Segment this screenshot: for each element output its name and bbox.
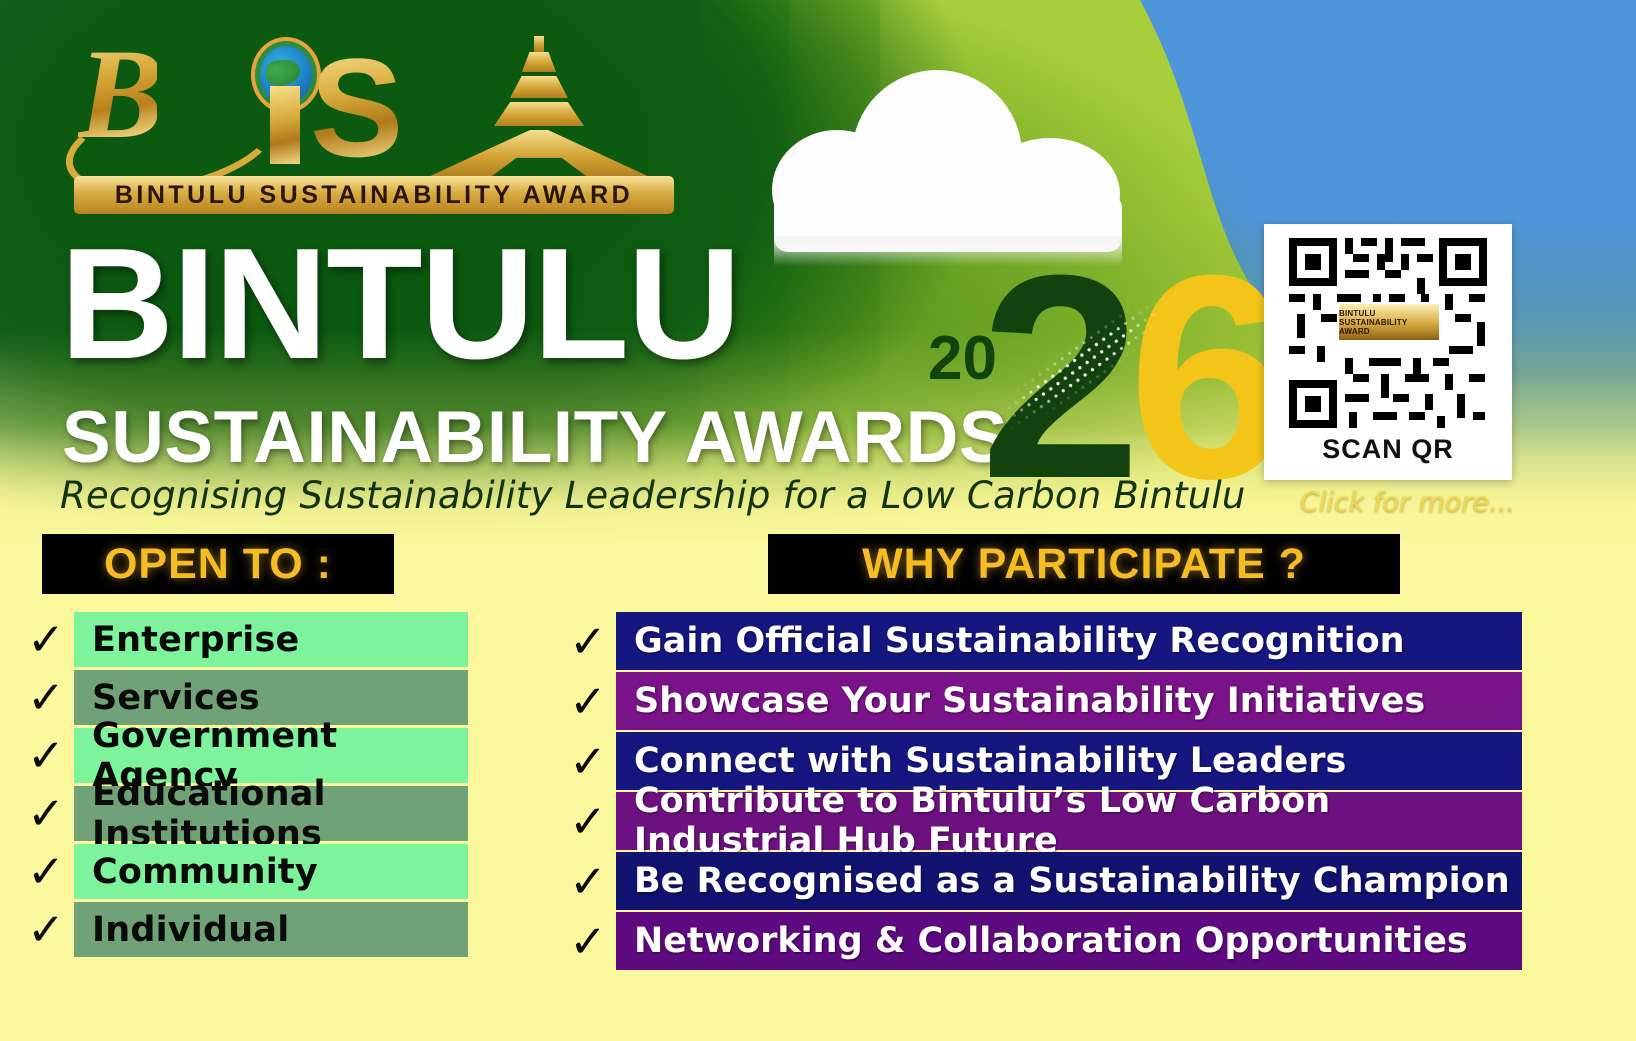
bisa-logo-mark: B S (70, 24, 680, 174)
why-participate-row-bar: Networking & Collaboration Opportunities (616, 912, 1522, 970)
qr-embedded-logo: BINTULU SUSTAINABILITY AWARD (1339, 304, 1439, 340)
list-item: ✓Enterprise (18, 612, 468, 667)
logo-ribbon-text: BINTULU SUSTAINABILITY AWARD (115, 181, 633, 210)
logo-ribbon: BINTULU SUSTAINABILITY AWARD (74, 176, 674, 214)
why-participate-row-bar: Be Recognised as a Sustainability Champi… (616, 852, 1522, 910)
check-icon: ✓ (18, 849, 74, 894)
check-icon: ✓ (560, 679, 616, 724)
why-participate-list: ✓Gain Official Sustainability Recognitio… (560, 612, 1522, 972)
open-to-row-bar: Community (74, 844, 468, 899)
list-item: ✓Be Recognised as a Sustainability Champ… (560, 852, 1522, 910)
list-item: ✓Contribute to Bintulu’s Low Carbon Indu… (560, 792, 1522, 850)
page-title: BINTULU (60, 232, 739, 377)
list-item: ✓Networking & Collaboration Opportunitie… (560, 912, 1522, 970)
open-to-row-bar: Educational Institutions (74, 786, 468, 841)
why-participate-label: Showcase Your Sustainability Initiatives (634, 681, 1425, 721)
list-item: ✓Community (18, 844, 468, 899)
why-participate-row-bar: Gain Official Sustainability Recognition (616, 612, 1522, 670)
check-icon: ✓ (560, 799, 616, 844)
poster-root: B S BINTULU SUSTAINABILITY AWARD BINTULU… (0, 0, 1636, 1041)
open-to-label: Services (92, 678, 260, 718)
check-icon: ✓ (18, 675, 74, 720)
list-item: ✓Individual (18, 902, 468, 957)
open-to-row-bar: Individual (74, 902, 468, 957)
check-icon: ✓ (18, 791, 74, 836)
logo-letter-s: S (310, 38, 403, 178)
check-icon: ✓ (560, 739, 616, 784)
list-item: ✓Gain Official Sustainability Recognitio… (560, 612, 1522, 670)
bisa-logo[interactable]: B S BINTULU SUSTAINABILITY AWARD (70, 24, 680, 214)
qr-caption: SCAN QR (1322, 434, 1454, 465)
why-participate-row-bar: Showcase Your Sustainability Initiatives (616, 672, 1522, 730)
list-item: ✓Showcase Your Sustainability Initiative… (560, 672, 1522, 730)
open-to-label: Individual (92, 910, 289, 950)
open-to-row-bar: Enterprise (74, 612, 468, 667)
check-icon: ✓ (560, 619, 616, 664)
check-icon: ✓ (18, 733, 74, 778)
why-participate-label: Connect with Sustainability Leaders (634, 741, 1346, 781)
open-to-label: Community (92, 852, 318, 892)
why-participate-header-bar: WHY PARTICIPATE ? (768, 534, 1400, 594)
why-participate-row-bar: Contribute to Bintulu’s Low Carbon Indus… (616, 792, 1522, 850)
logo-letter-i (270, 86, 300, 164)
year-graphic-2026: 2 6 20 (918, 250, 1218, 515)
open-to-list: ✓Enterprise✓Services✓Government Agency✓E… (18, 612, 468, 960)
page-subtitle: SUSTAINABILITY AWARDS (62, 396, 1008, 479)
why-participate-label: Be Recognised as a Sustainability Champi… (634, 861, 1510, 901)
why-participate-label: Networking & Collaboration Opportunities (634, 921, 1468, 961)
open-to-label: Educational Institutions (92, 774, 468, 854)
qr-click-for-more-link[interactable]: Click for more... (1300, 487, 1515, 518)
check-icon: ✓ (18, 617, 74, 662)
why-participate-label: Gain Official Sustainability Recognition (634, 621, 1405, 661)
qr-code-card[interactable]: BINTULU SUSTAINABILITY AWARD SCAN QR (1264, 224, 1512, 480)
why-participate-heading: WHY PARTICIPATE ? (862, 540, 1306, 589)
open-to-header-bar: OPEN TO : (42, 534, 394, 594)
qr-code-icon[interactable]: BINTULU SUSTAINABILITY AWARD (1285, 234, 1491, 432)
list-item: ✓Educational Institutions (18, 786, 468, 841)
open-to-heading: OPEN TO : (104, 540, 332, 589)
pagoda-icon (422, 34, 672, 179)
check-icon: ✓ (560, 919, 616, 964)
check-icon: ✓ (18, 907, 74, 952)
open-to-label: Enterprise (92, 620, 299, 660)
check-icon: ✓ (560, 859, 616, 904)
why-participate-label: Contribute to Bintulu’s Low Carbon Indus… (634, 781, 1522, 861)
